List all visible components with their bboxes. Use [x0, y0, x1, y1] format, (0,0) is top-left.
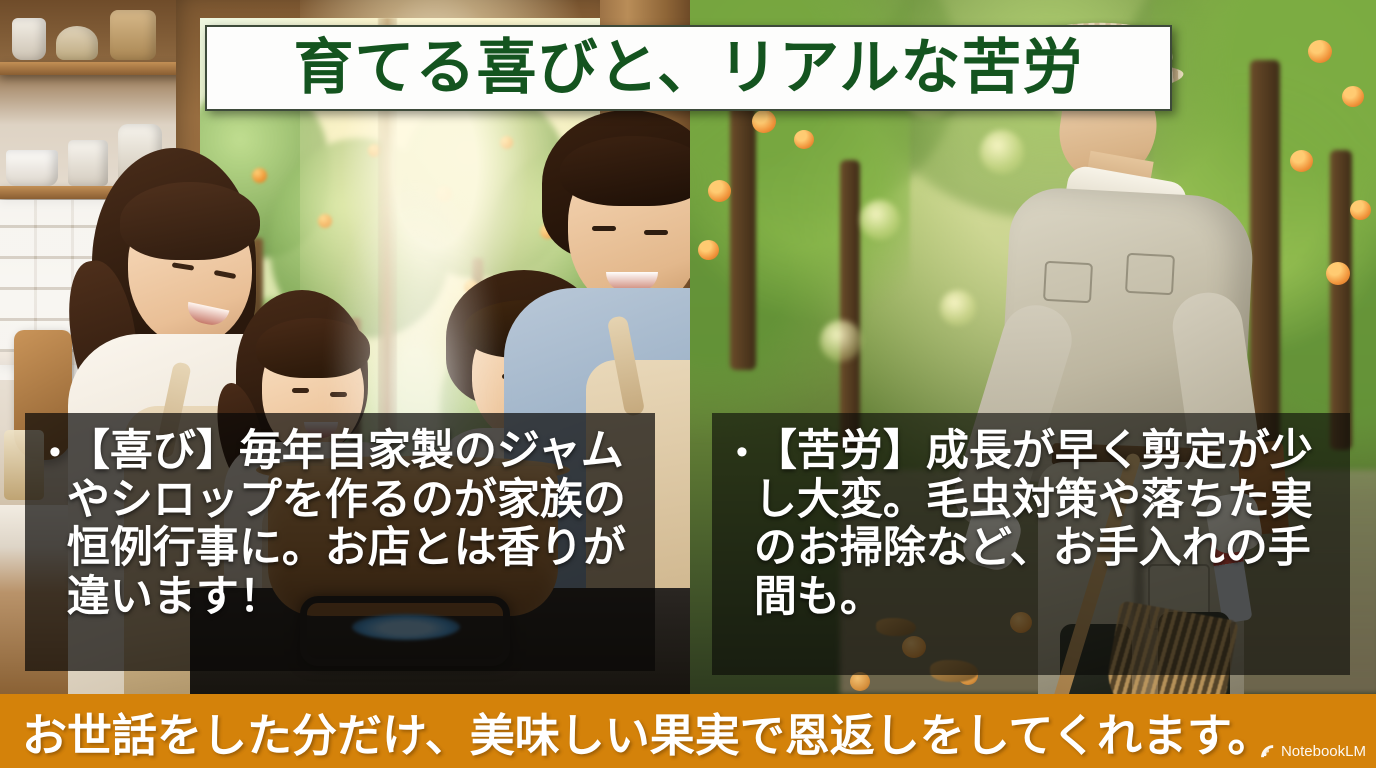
slide-root: 育てる喜びと、リアルな苦労 • 【喜び】毎年自家製のジャムやシロップを作るのが家…	[0, 0, 1376, 768]
kitchen-plate-stack	[6, 150, 58, 186]
bullet-box-hardship: • 【苦労】成長が早く剪定が少し大変。毛虫対策や落ちた実のお掃除など、お手入れの…	[712, 413, 1350, 675]
bullet-text-hardship: 【苦労】成長が早く剪定が少し大変。毛虫対策や落ちた実のお掃除など、お手入れの手間…	[754, 427, 1332, 621]
bullet-box-joy: • 【喜び】毎年自家製のジャムやシロップを作るのが家族の恒例行事に。お店とは香り…	[25, 413, 655, 671]
kitchen-basket	[110, 10, 156, 60]
shelf-board	[0, 62, 190, 75]
notebooklm-watermark: NotebookLM	[1259, 743, 1366, 760]
bullet-dot-icon: •	[736, 427, 748, 477]
page-title: 育てる喜びと、リアルな苦労	[294, 38, 1084, 98]
title-banner: 育てる喜びと、リアルな苦労	[205, 25, 1172, 111]
kitchen-jar	[12, 18, 46, 60]
bottom-caption-banner: お世話をした分だけ、美味しい果実で恩返しをしてくれます。	[0, 694, 1376, 768]
bullet-text-joy: 【喜び】毎年自家製のジャムやシロップを作るのが家族の恒例行事に。お店とは香りが違…	[67, 427, 637, 621]
notebooklm-label: NotebookLM	[1281, 743, 1366, 760]
bullet-dot-icon: •	[49, 427, 61, 477]
kitchen-bowl	[56, 26, 98, 60]
bottom-caption-text: お世話をした分だけ、美味しい果実で恩返しをしてくれます。	[0, 699, 1273, 764]
notebooklm-spiral-icon	[1259, 743, 1276, 760]
